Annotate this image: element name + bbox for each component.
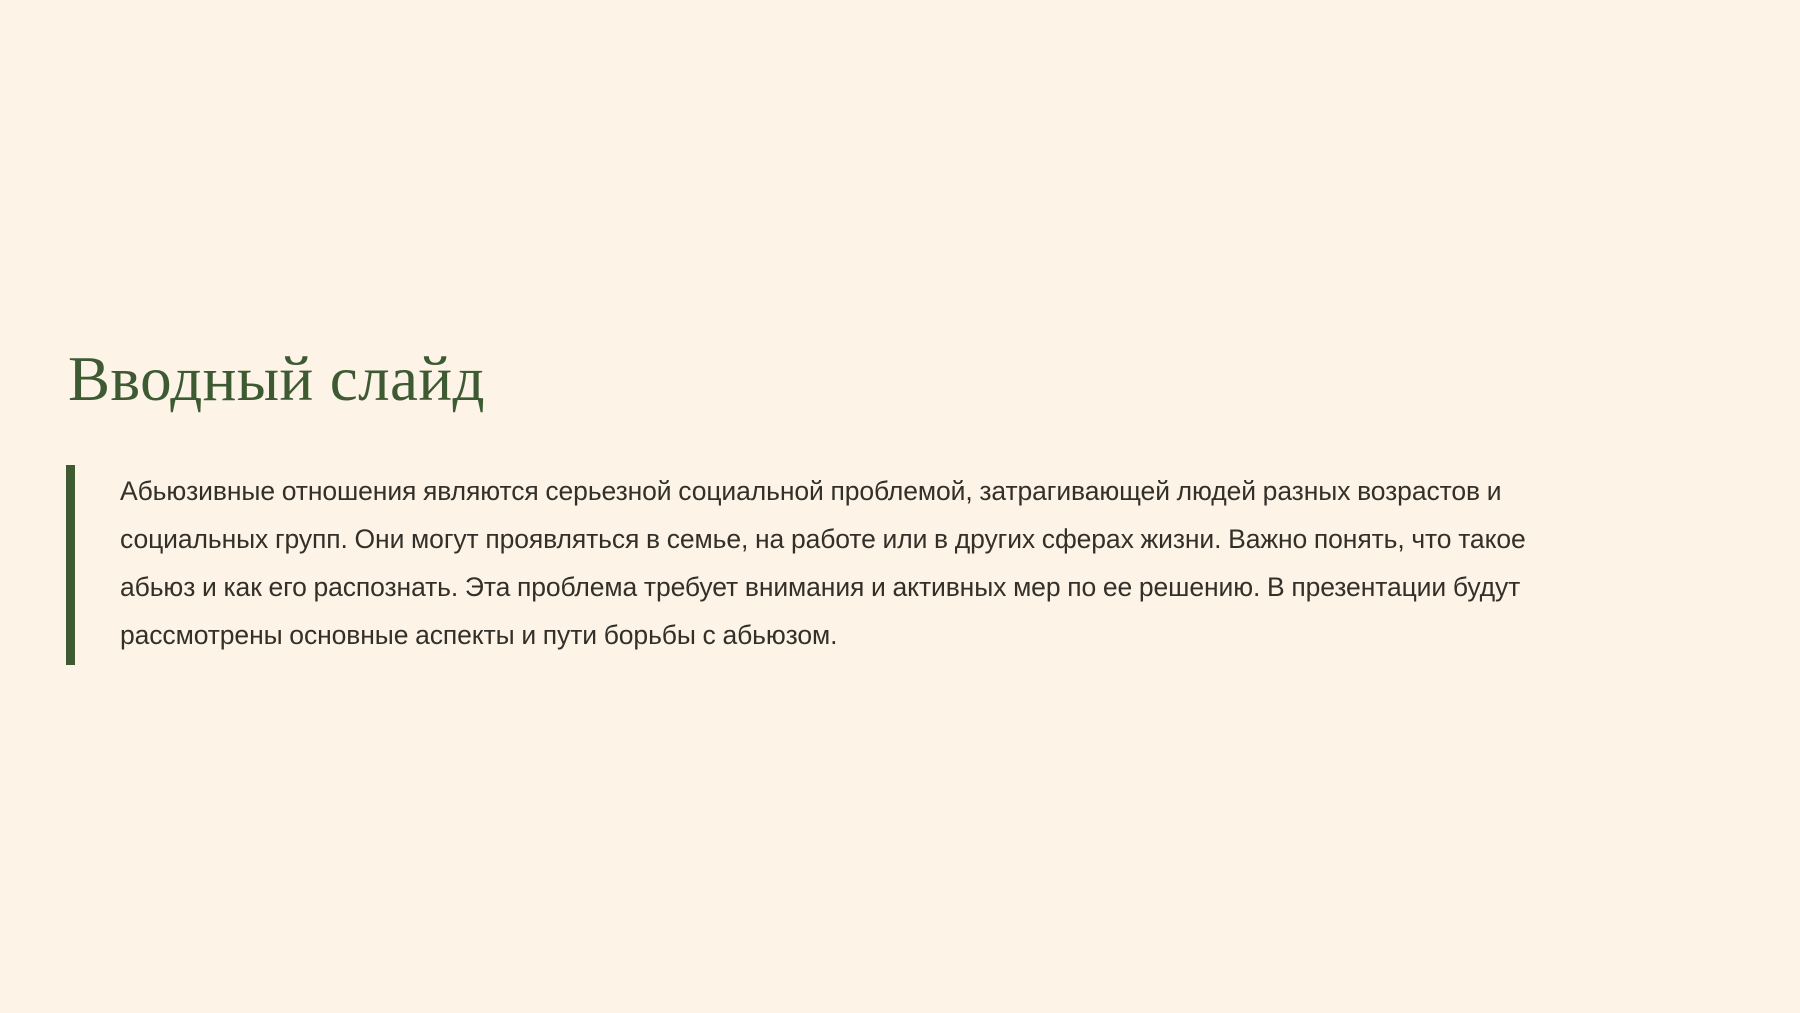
presentation-slide: Вводный слайд Абьюзивные отношения являю… (0, 0, 1800, 1013)
body-callout-block: Абьюзивные отношения являются серьезной … (66, 465, 1546, 665)
body-text-container: Абьюзивные отношения являются серьезной … (75, 465, 1546, 665)
body-paragraph: Абьюзивные отношения являются серьезной … (120, 467, 1546, 659)
accent-bar (66, 465, 75, 665)
page-title: Вводный слайд (68, 344, 485, 415)
